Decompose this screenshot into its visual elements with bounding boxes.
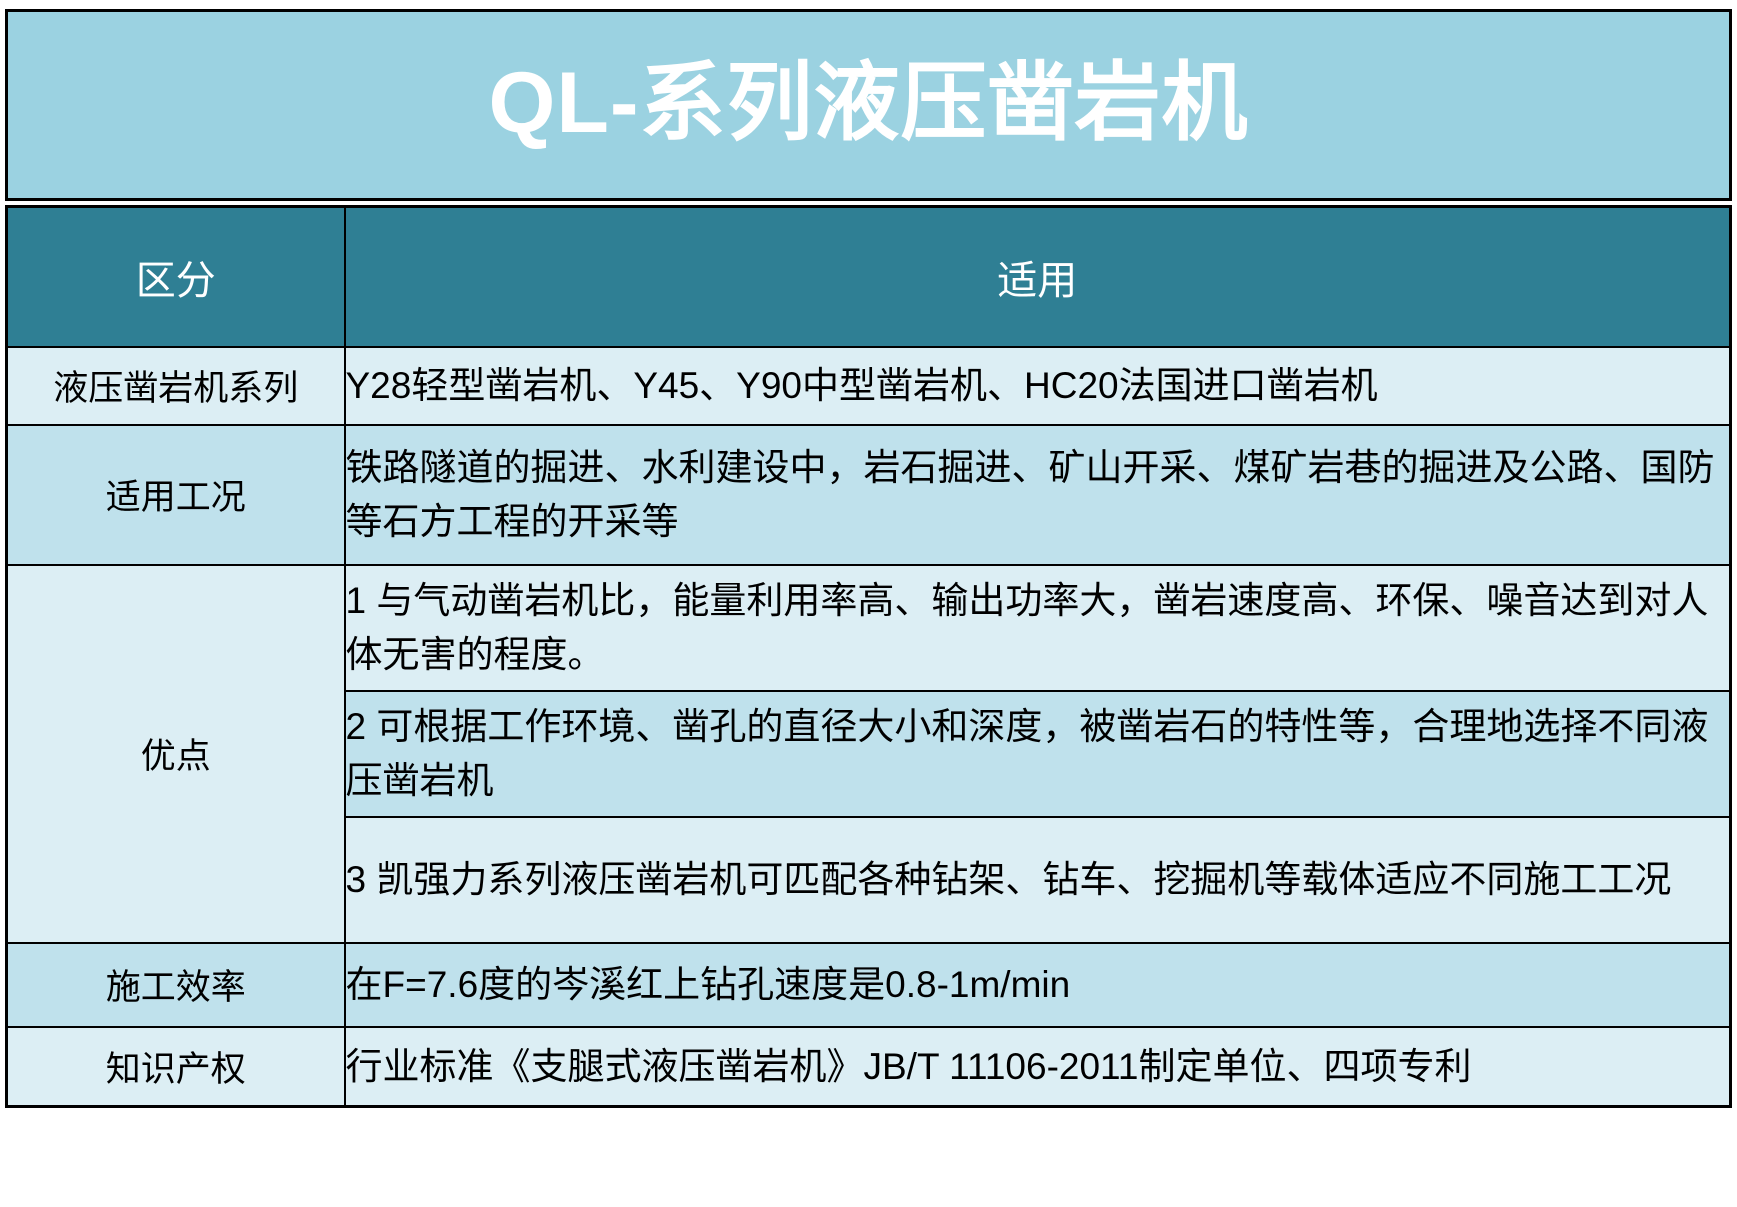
row-label-series: 液压凿岩机系列: [7, 347, 345, 425]
table-row: 施工效率 在F=7.6度的岑溪红上钻孔速度是0.8-1m/min: [7, 943, 1731, 1027]
row-value-advantage-1: 1 与气动凿岩机比，能量利用率高、输出功率大，凿岩速度高、环保、噪音达到对人体无…: [345, 565, 1731, 691]
row-value-series: Y28轻型凿岩机、Y45、Y90中型凿岩机、HC20法国进口凿岩机: [345, 347, 1731, 425]
row-value-ip: 行业标准《支腿式液压凿岩机》JB/T 11106-2011制定单位、四项专利: [345, 1027, 1731, 1107]
spec-sheet: QL-系列液压凿岩机 区分 适用 液压凿岩机系列 Y28轻型凿岩机、Y45、Y9…: [0, 0, 1737, 1207]
header-cell-category: 区分: [7, 207, 345, 347]
row-label-ip: 知识产权: [7, 1027, 345, 1107]
table-row: 知识产权 行业标准《支腿式液压凿岩机》JB/T 11106-2011制定单位、四…: [7, 1027, 1731, 1107]
table-row: 优点 1 与气动凿岩机比，能量利用率高、输出功率大，凿岩速度高、环保、噪音达到对…: [7, 565, 1731, 691]
row-value-efficiency: 在F=7.6度的岑溪红上钻孔速度是0.8-1m/min: [345, 943, 1731, 1027]
row-value-advantage-3: 3 凯强力系列液压凿岩机可匹配各种钻架、钻车、挖掘机等载体适应不同施工工况: [345, 817, 1731, 943]
table-row: 适用工况 铁路隧道的掘进、水利建设中，岩石掘进、矿山开采、煤矿岩巷的掘进及公路、…: [7, 425, 1731, 565]
row-value-advantage-2: 2 可根据工作环境、凿孔的直径大小和深度，被凿岩石的特性等，合理地选择不同液压凿…: [345, 691, 1731, 817]
page-title: QL-系列液压凿岩机: [488, 60, 1248, 146]
row-label-conditions: 适用工况: [7, 425, 345, 565]
table-row: 液压凿岩机系列 Y28轻型凿岩机、Y45、Y90中型凿岩机、HC20法国进口凿岩…: [7, 347, 1731, 425]
row-label-advantages: 优点: [7, 565, 345, 943]
title-banner: QL-系列液压凿岩机: [5, 9, 1732, 201]
header-cell-application: 适用: [345, 207, 1731, 347]
row-label-efficiency: 施工效率: [7, 943, 345, 1027]
specification-table: 区分 适用 液压凿岩机系列 Y28轻型凿岩机、Y45、Y90中型凿岩机、HC20…: [5, 205, 1732, 1108]
table-header-row: 区分 适用: [7, 207, 1731, 347]
row-value-conditions: 铁路隧道的掘进、水利建设中，岩石掘进、矿山开采、煤矿岩巷的掘进及公路、国防等石方…: [345, 425, 1731, 565]
